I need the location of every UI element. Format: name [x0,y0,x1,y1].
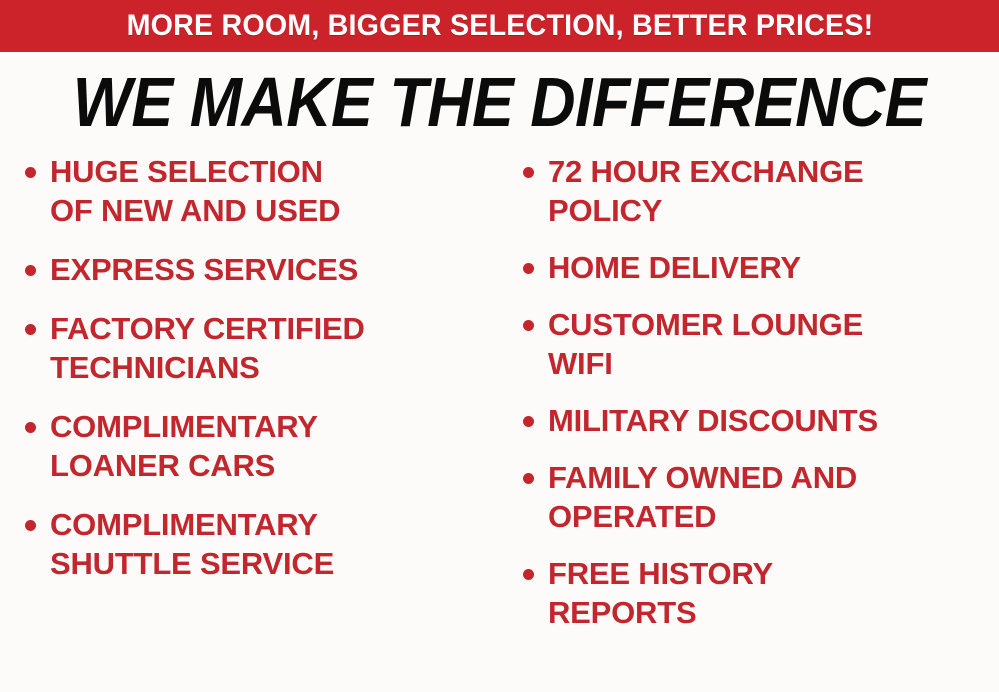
list-item: MILITARY DISCOUNTS [512,401,999,440]
benefits-columns: HUGE SELECTION OF NEW AND USEDEXPRESS SE… [0,152,999,692]
promo-banner: MORE ROOM, BIGGER SELECTION, BETTER PRIC… [0,0,999,52]
page-title: WE MAKE THE DIFFERENCE [73,67,926,136]
list-item-label: CUSTOMER LOUNGE WIFI [548,305,999,383]
list-item: 72 HOUR EXCHANGE POLICY [512,152,999,230]
list-item: HOME DELIVERY [512,248,999,287]
list-item-label: FACTORY CERTIFIED TECHNICIANS [50,309,504,387]
list-item: FACTORY CERTIFIED TECHNICIANS [14,309,504,387]
benefits-column-right: 72 HOUR EXCHANGE POLICYHOME DELIVERYCUST… [512,152,999,650]
list-item-label: 72 HOUR EXCHANGE POLICY [548,152,999,230]
list-item: HUGE SELECTION OF NEW AND USED [14,152,504,230]
list-item: EXPRESS SERVICES [14,250,504,289]
list-item: CUSTOMER LOUNGE WIFI [512,305,999,383]
benefits-list-left: HUGE SELECTION OF NEW AND USEDEXPRESS SE… [14,152,504,583]
list-item-label: FREE HISTORY REPORTS [548,554,999,632]
list-item: FAMILY OWNED AND OPERATED [512,458,999,536]
list-item-label: MILITARY DISCOUNTS [548,401,999,440]
list-item: COMPLIMENTARY LOANER CARS [14,407,504,485]
list-item-label: COMPLIMENTARY SHUTTLE SERVICE [50,505,504,583]
list-item-label: COMPLIMENTARY LOANER CARS [50,407,504,485]
list-item-label: HUGE SELECTION OF NEW AND USED [50,152,504,230]
benefits-column-left: HUGE SELECTION OF NEW AND USEDEXPRESS SE… [14,152,504,603]
list-item-label: HOME DELIVERY [548,248,999,287]
benefits-list-right: 72 HOUR EXCHANGE POLICYHOME DELIVERYCUST… [512,152,999,632]
promo-banner-text: MORE ROOM, BIGGER SELECTION, BETTER PRIC… [126,11,873,41]
list-item-label: FAMILY OWNED AND OPERATED [548,458,999,536]
headline-container: WE MAKE THE DIFFERENCE [0,63,999,141]
list-item-label: EXPRESS SERVICES [50,250,504,289]
list-item: COMPLIMENTARY SHUTTLE SERVICE [14,505,504,583]
list-item: FREE HISTORY REPORTS [512,554,999,632]
